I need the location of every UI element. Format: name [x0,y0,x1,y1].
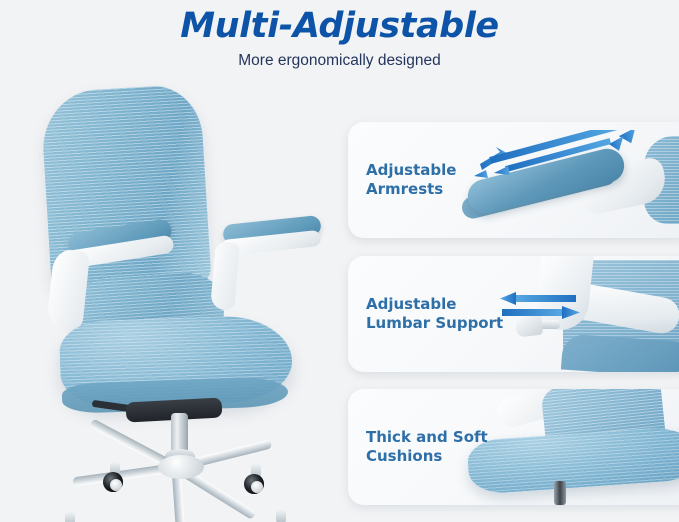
product-hero-image [8,80,344,510]
feature-card-adjustable-lumbar-support[interactable]: Adjustable Lumbar Support [348,256,679,372]
lumbar-adjust-arrows [498,292,594,322]
feature-card-label: Adjustable Lumbar Support [366,295,503,333]
feature-card-label: Thick and Soft Cushions [366,428,488,466]
product-feature-banner: Multi-Adjustable More ergonomically desi… [0,0,679,522]
feature-card-label: Adjustable Armrests [366,161,456,199]
thick-seat-cushion [466,425,679,495]
right-armrest-post [210,241,240,311]
feature-card-list: Adjustable Armrests [348,0,679,522]
caster-wheel [103,472,123,492]
chair-column-fragment [554,481,566,505]
caster-wheel [244,474,264,494]
armrest-adjust-arrows [470,130,650,178]
caster-stem [65,512,75,522]
feature-card-adjustable-armrests[interactable]: Adjustable Armrests [348,122,679,238]
caster-stem [276,510,286,522]
base-hub [158,455,204,479]
office-chair-illustration [8,80,344,510]
feature-card-thick-and-soft-cushions[interactable]: Thick and Soft Cushions [348,389,679,505]
